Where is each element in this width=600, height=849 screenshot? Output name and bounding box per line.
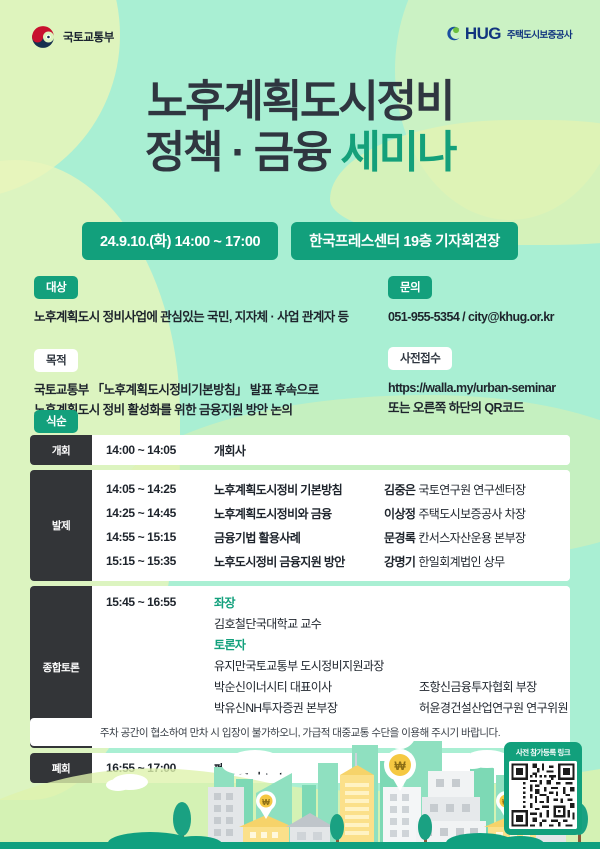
schedule-line: 14:55 ~ 15:15 금융기법 활용사례 문경록칸서스자산운용 본부장 [92, 525, 570, 549]
panelist-name: 유지만 [214, 659, 245, 673]
table-row: 발제 14:05 ~ 14:25 노후계획도시정비 기본방침 김중은국토연구원 … [30, 470, 570, 581]
schedule-topic: 노후계획도시정비 기본방침 [214, 481, 384, 498]
logo-row: 국토교통부 HUG 주택도시보증공사 [0, 24, 600, 54]
audience-text: 노후계획도시 정비사업에 관심있는 국민, 지자체 · 사업 관계자 등 [34, 307, 374, 327]
purpose-badge: 목적 [34, 349, 78, 372]
schedule-speaker: 강명기한일회계법인 상무 [384, 553, 505, 570]
title-line-1: 노후계획도시정비 [0, 76, 600, 127]
speaker-name: 강명기 [384, 555, 415, 569]
svg-text:₩: ₩ [394, 759, 406, 773]
panelist-affiliation: NH투자증권 본부장 [245, 701, 337, 715]
registration-badge: 사전접수 [388, 347, 452, 370]
panelist-affiliation: 금융투자협회 부장 [450, 680, 536, 694]
audience-block: 대상 노후계획도시 정비사업에 관심있는 국민, 지자체 · 사업 관계자 등 [34, 276, 374, 327]
schedule-topic: 노후계획도시정비와 금융 [214, 505, 384, 522]
poster-title: 노후계획도시정비 정책 · 금융 세미나 [0, 76, 600, 178]
hug-subtitle: 주택도시보증공사 [507, 27, 572, 41]
panelist-affiliation: 이너시티 대표이사 [245, 680, 331, 694]
schedule-time: 14:00 ~ 14:05 [106, 443, 214, 457]
schedule-line: 14:00 ~ 14:05 개회사 [92, 438, 570, 462]
contact-text: 051-955-5354 / city@khug.or.kr [388, 307, 588, 327]
hug-globe-icon [445, 25, 462, 42]
registration-url[interactable]: https://walla.my/urban-seminar [388, 378, 588, 398]
chair-heading: 좌장 [214, 593, 570, 614]
schedule-time: 14:25 ~ 14:45 [106, 506, 214, 520]
schedule-badge-wrap: 식순 [34, 410, 78, 433]
speaker-affiliation: 국토연구원 연구센터장 [418, 483, 525, 497]
chair-person: 김호철단국대학교 교수 [214, 614, 570, 635]
registration-hint: 또는 오른쪽 하단의 QR코드 [388, 398, 588, 418]
info-column-left: 대상 노후계획도시 정비사업에 관심있는 국민, 지자체 · 사업 관계자 등 … [34, 276, 374, 420]
schedule-time: 14:05 ~ 14:25 [106, 482, 214, 496]
panel-heading: 토론자 [214, 635, 570, 656]
info-section: 대상 노후계획도시 정비사업에 관심있는 국민, 지자체 · 사업 관계자 등 … [0, 276, 600, 406]
event-meta-row: 24.9.10.(화) 14:00 ~ 17:00 한국프레스센터 19층 기자… [0, 222, 600, 260]
panelist-item: 조항신금융투자협회 부장 [419, 677, 570, 698]
chair-name: 김호철 [214, 617, 245, 631]
speaker-name: 김중은 [384, 483, 415, 497]
row-body: 14:05 ~ 14:25 노후계획도시정비 기본방침 김중은국토연구원 연구센… [92, 470, 570, 581]
qr-code-icon[interactable] [509, 761, 577, 829]
schedule-topic: 노후도시정비 금융지원 방안 [214, 553, 384, 570]
hug-wordmark: HUG [465, 25, 501, 42]
panelist-affiliation: 국토교통부 도시정비지원과장 [245, 659, 383, 673]
chair-affiliation: 단국대학교 교수 [245, 617, 321, 631]
panelist-item: 박유신NH투자증권 본부장 [214, 698, 419, 719]
speaker-name: 이상정 [384, 507, 415, 521]
panelist-name: 조항신 [419, 680, 450, 694]
contact-block: 문의 051-955-5354 / city@khug.or.kr [388, 276, 588, 327]
schedule-time: 15:45 ~ 16:55 [106, 595, 176, 609]
schedule-line: 14:25 ~ 14:45 노후계획도시정비와 금융 이상정주택도시보증공사 차… [92, 501, 570, 525]
title-line-2-accent: 세미나 [340, 128, 455, 177]
panelist-name: 박순신 [214, 680, 245, 694]
qr-registration-card[interactable]: 사전 참가등록 링크 [504, 742, 582, 835]
schedule-time: 15:15 ~ 15:35 [106, 554, 214, 568]
registration-block: 사전접수 https://walla.my/urban-seminar 또는 오… [388, 347, 588, 418]
speaker-affiliation: 한일회계법인 상무 [418, 555, 504, 569]
schedule-speaker: 이상정주택도시보증공사 차장 [384, 505, 525, 522]
panelist-lead: 유지만국토교통부 도시정비지원과장 [214, 656, 570, 677]
panelist-affiliation: 건설산업연구원 연구위원 [450, 701, 568, 715]
panelist-name: 박유신 [214, 701, 245, 715]
panelist-item: 박순신이너시티 대표이사 [214, 677, 419, 698]
event-place-pill: 한국프레스센터 19층 기자회견장 [291, 222, 518, 260]
molit-logo: 국토교통부 [30, 24, 114, 50]
svg-text:₩: ₩ [262, 798, 270, 807]
schedule-speaker: 문경록칸서스자산운용 본부장 [384, 529, 525, 546]
audience-badge: 대상 [34, 276, 78, 299]
speaker-affiliation: 주택도시보증공사 차장 [418, 507, 525, 521]
purpose-block: 목적 국토교통부 「노후계획도시정비기본방침」 발표 후속으로 노후계획도시 정… [34, 349, 374, 420]
schedule-speaker: 김중은국토연구원 연구센터장 [384, 481, 525, 498]
event-date-pill: 24.9.10.(화) 14:00 ~ 17:00 [82, 222, 278, 260]
speaker-affiliation: 칸서스자산운용 본부장 [418, 531, 525, 545]
schedule-badge: 식순 [34, 410, 78, 433]
molit-label: 국토교통부 [63, 29, 114, 45]
info-column-right: 문의 051-955-5354 / city@khug.or.kr 사전접수 h… [388, 276, 588, 418]
purpose-line-2: 노후계획도시 정비 활성화를 위한 금융지원 방안 논의 [34, 400, 374, 420]
title-line-2: 정책 · 금융 세미나 [0, 127, 600, 178]
hug-logo: HUG 주택도시보증공사 [445, 25, 572, 42]
schedule-line: 14:05 ~ 14:25 노후계획도시정비 기본방침 김중은국토연구원 연구센… [92, 477, 570, 501]
schedule-line: 15:15 ~ 15:35 노후도시정비 금융지원 방안 강명기한일회계법인 상… [92, 549, 570, 573]
title-line-2-dark: 정책 · 금융 [145, 128, 331, 177]
schedule-time: 14:55 ~ 15:15 [106, 530, 214, 544]
contact-badge: 문의 [388, 276, 432, 299]
qr-label: 사전 참가등록 링크 [509, 747, 577, 758]
speaker-name: 문경록 [384, 531, 415, 545]
table-row: 개회 14:00 ~ 14:05 개회사 [30, 435, 570, 465]
purpose-line-1: 국토교통부 「노후계획도시정비기본방침」 발표 후속으로 [34, 380, 374, 400]
schedule-topic: 금융기법 활용사례 [214, 529, 384, 546]
panelist-item: 허윤경건설산업연구원 연구위원 [419, 698, 570, 719]
panelist-name: 허윤경 [419, 701, 450, 715]
taegeuk-logo-icon [30, 24, 56, 50]
schedule-topic: 개회사 [214, 442, 384, 459]
row-label: 개회 [30, 435, 92, 465]
row-body: 14:00 ~ 14:05 개회사 [92, 435, 570, 465]
row-label: 발제 [30, 470, 92, 581]
seminar-poster: 국토교통부 HUG 주택도시보증공사 노후계획도시정비 정책 · 금융 세미나 … [0, 0, 600, 849]
